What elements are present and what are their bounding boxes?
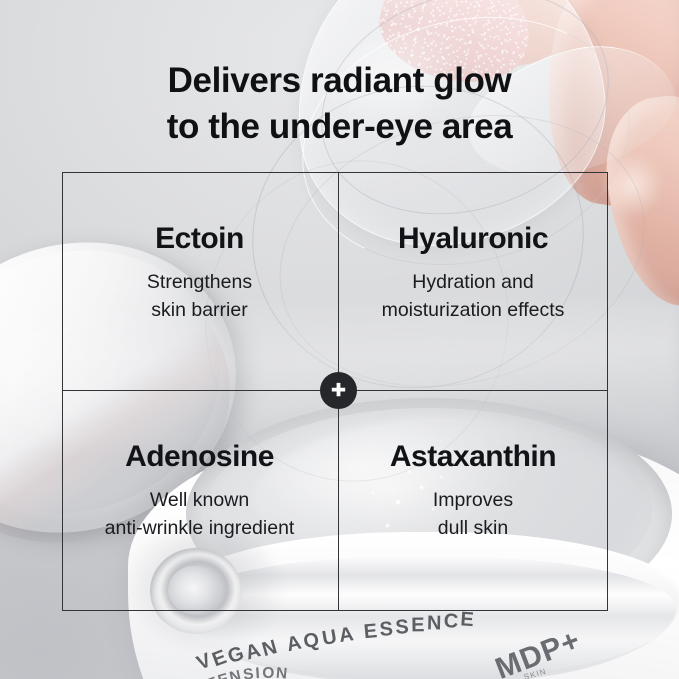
ingredient-title: Astaxanthin (338, 440, 608, 473)
ingredient-desc-line-2: skin barrier (62, 297, 337, 325)
ingredient-desc-line-1: Strengthens (62, 269, 337, 297)
ingredient-desc-line-2: anti-wrinkle ingredient (62, 515, 337, 543)
ingredient-title: Hyaluronic (338, 222, 608, 255)
brand-mark: MDP+ (491, 624, 586, 679)
label-char: S (395, 616, 412, 640)
infographic-canvas: Delivers radiant glow to the under-eye a… (0, 0, 679, 679)
label-char: Q (302, 628, 324, 654)
ingredient-desc-line-1: Hydration and (338, 269, 608, 297)
label-char: C (443, 610, 461, 634)
label-char: N (426, 612, 443, 635)
label-char: N (260, 635, 283, 662)
label-char: E (216, 670, 233, 679)
quadrant-bottom-left: Adenosine Well known anti-wrinkle ingred… (62, 440, 337, 542)
label-char: E (209, 645, 232, 672)
label-char: N (275, 665, 290, 679)
page-title: Delivers radiant glow to the under-eye a… (0, 58, 679, 150)
label-char: A (285, 631, 307, 657)
label-char: I (255, 665, 263, 679)
product-label-main: VEGAN AQUA ESSENCE (194, 604, 478, 671)
label-char: N (228, 667, 245, 679)
brand-mark-sub: SKIN (523, 667, 548, 679)
label-char: O (262, 665, 276, 679)
label-char: E (459, 608, 477, 632)
label-char: S (379, 618, 396, 642)
quadrant-top-right: Hyaluronic Hydration and moisturization … (338, 222, 608, 324)
headline-line-1: Delivers radiant glow (0, 58, 679, 104)
ingredient-desc-line-1: Well known (62, 487, 337, 515)
label-char: G (225, 641, 250, 669)
label-char (277, 634, 291, 658)
label-char: E (411, 614, 427, 637)
label-char: T (205, 673, 222, 679)
headline-line-2: to the under-eye area (0, 104, 679, 150)
label-char: S (242, 665, 257, 679)
ingredient-title: Ectoin (62, 222, 337, 255)
label-char (354, 622, 365, 646)
plus-icon (320, 372, 357, 409)
product-label-sub: TENSION (205, 660, 291, 679)
ingredient-desc-line-1: Improves (338, 487, 608, 515)
knuckle-highlight (596, 150, 679, 242)
quadrant-top-left: Ectoin Strengthens skin barrier (62, 222, 337, 324)
label-char: A (337, 623, 357, 648)
label-char: V (194, 648, 217, 675)
ingredient-desc-line-2: dull skin (338, 515, 608, 543)
ingredient-desc-line-2: moisturization effects (338, 297, 608, 325)
ingredient-title: Adenosine (62, 440, 337, 473)
label-char: U (320, 625, 341, 651)
label-char: E (363, 620, 381, 644)
label-char: A (243, 638, 266, 665)
quadrant-bottom-right: Astaxanthin Improves dull skin (338, 440, 608, 542)
